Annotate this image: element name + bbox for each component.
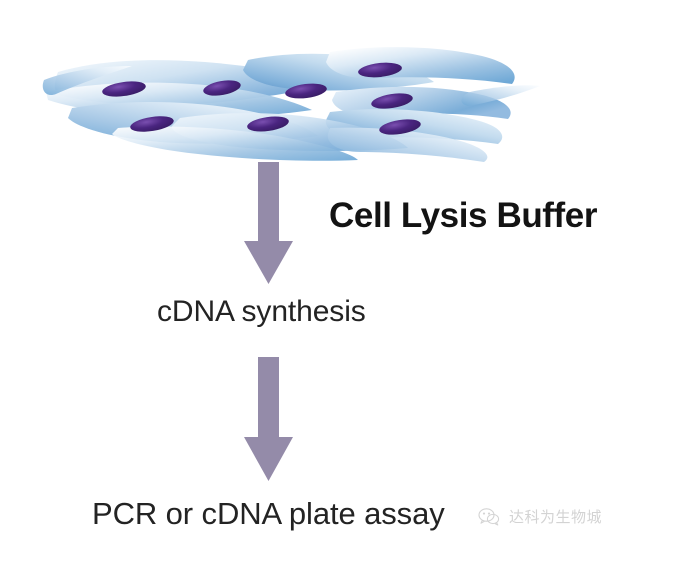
watermark-text: 达科为生物城 [509, 506, 602, 527]
arrow-top [244, 162, 293, 284]
cell-shapes [43, 47, 540, 162]
cell-monolayer-illustration [0, 0, 700, 566]
workflow-figure: Cell Lysis Buffer cDNA synthesis PCR or … [0, 0, 700, 566]
label-cdna-synthesis: cDNA synthesis [157, 297, 366, 327]
watermark: 达科为生物城 [478, 506, 602, 527]
label-cell-lysis-buffer: Cell Lysis Buffer [329, 198, 597, 233]
arrow-bottom [244, 357, 293, 481]
cell-nuclei [101, 61, 422, 137]
wechat-logo-icon [478, 507, 500, 527]
label-pcr-or-cdna-plate-assay: PCR or cDNA plate assay [92, 498, 445, 529]
